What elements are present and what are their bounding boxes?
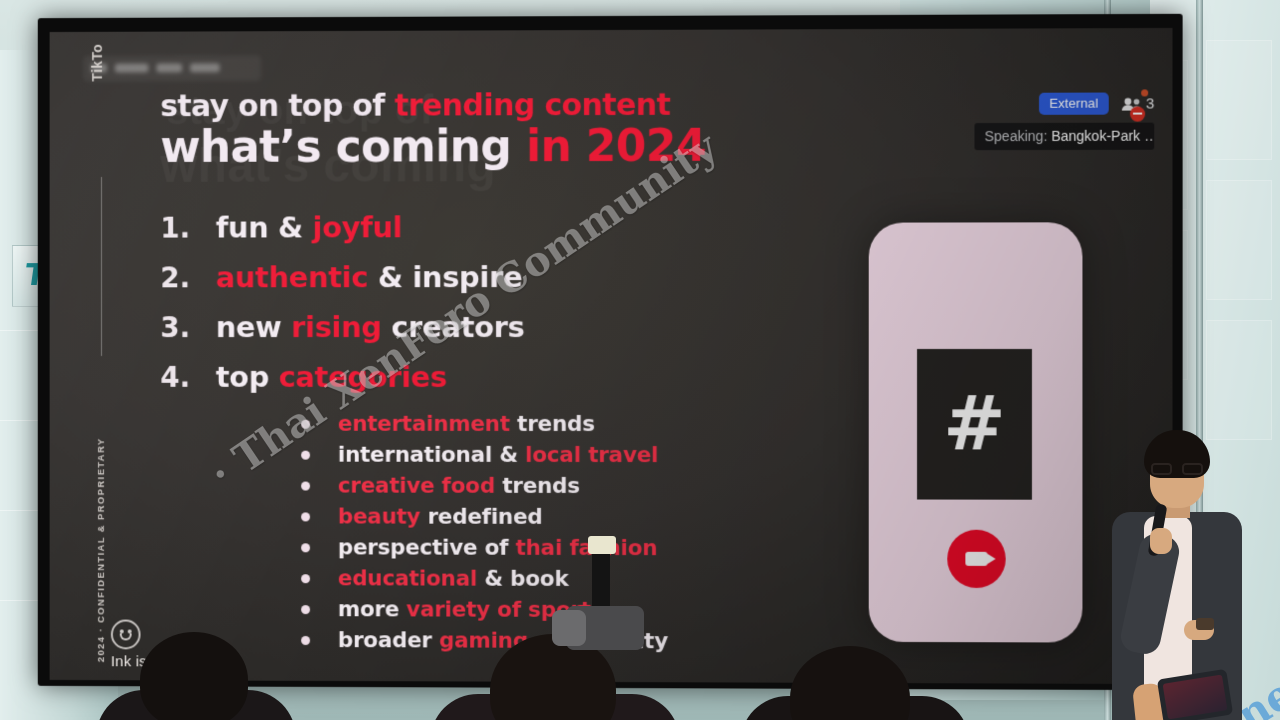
list-text: top categories [216,360,447,394]
list-number: 2. [160,261,215,294]
external-badge: External [1039,93,1108,115]
bullet-accent: creative food [338,473,495,498]
bullet-accent: educational [338,566,477,591]
bullet-plain-before: more [338,597,406,622]
bullet-accent: local travel [525,443,658,468]
bullet-dot-icon [301,450,310,459]
bullet-plain-before: international & [338,442,525,467]
slide-kicker-accent: trending content [394,88,670,124]
video-camera-icon [965,552,987,566]
eyeglasses [1150,463,1204,475]
bullet-accent: entertainment [338,412,510,437]
list-text-accent: categories [279,360,447,394]
slide-headline-plain: what’s coming [160,121,526,173]
bullet-dot-icon [301,419,310,428]
bullet-dot-icon [301,574,310,583]
bullet-text: beauty redefined [338,504,543,529]
list-text-plain-before: top [216,360,279,394]
bullet-plain-after: redefined [420,504,542,529]
bullet-plain-after: & book [477,566,568,591]
bullet-dot-icon [301,605,310,614]
list-text-plain-after: creators [382,310,525,344]
list-text-accent: joyful [313,210,403,244]
presentation-clicker [1196,618,1214,630]
bullet-dot-icon [301,512,310,521]
speaking-name: Bangkok-Park … [1051,128,1154,144]
bullet-text: international & local travel [338,442,658,467]
list-text-plain-after: & inspire [368,260,522,294]
list-number: 4. [160,361,215,394]
brand-label: TikTo [89,44,105,82]
camera-rig [556,548,646,668]
speaking-label: Speaking: [985,128,1048,144]
phone-illustration: # [869,222,1083,642]
bullet-text: educational & book [338,566,569,592]
meeting-overlay: External 3 [974,92,1154,150]
list-text-plain-before: fun & [216,210,313,244]
rail-divider [101,177,102,356]
list-text-accent: rising [291,310,381,344]
speaking-status-bar: Speaking: Bangkok-Park … [974,123,1154,151]
bullet-accent: beauty [338,504,420,529]
slide-kicker-plain: stay on top of [160,89,394,125]
video-record-button-icon [947,530,1005,588]
participant-count-value: 3 [1146,95,1154,112]
slide-headline-accent: in 2024 [526,120,706,171]
phone-screen: # [917,349,1032,500]
hashtag-icon: # [917,349,1032,500]
bullet-dot-icon [301,481,310,490]
bullet-plain-after: trends [495,474,580,499]
list-text-accent: authentic [216,260,368,294]
screenshot-root: T co stay on top of what’s coming [0,0,1280,720]
bullet-dot-icon [301,543,310,552]
list-number: 1. [160,211,215,244]
bullet-plain-after: trends [510,412,595,437]
smiley-face-icon [111,619,141,649]
list-number: 3. [160,311,215,344]
bullet-text: creative food trends [338,473,580,498]
confidential-notice: 2024 · CONFIDENTIAL & PROPRIETARY [96,437,107,662]
bullet-text: entertainment trends [338,412,595,437]
audience-member-head [140,632,248,720]
mute-indicator-icon [1130,106,1145,121]
participant-count[interactable]: 3 [1121,95,1155,112]
list-text: new rising creators [216,310,525,344]
notification-dot-icon [1141,89,1148,96]
list-text: authentic & inspire [216,260,523,294]
bullet-plain-before: broader [338,628,439,653]
list-text: fun & joyful [216,210,402,244]
bullet-plain-before: perspective of [338,535,516,560]
slide-left-rail: TikTo 2024 · CONFIDENTIAL & PROPRIETARY [85,68,119,663]
list-text-plain-before: new [216,310,291,344]
